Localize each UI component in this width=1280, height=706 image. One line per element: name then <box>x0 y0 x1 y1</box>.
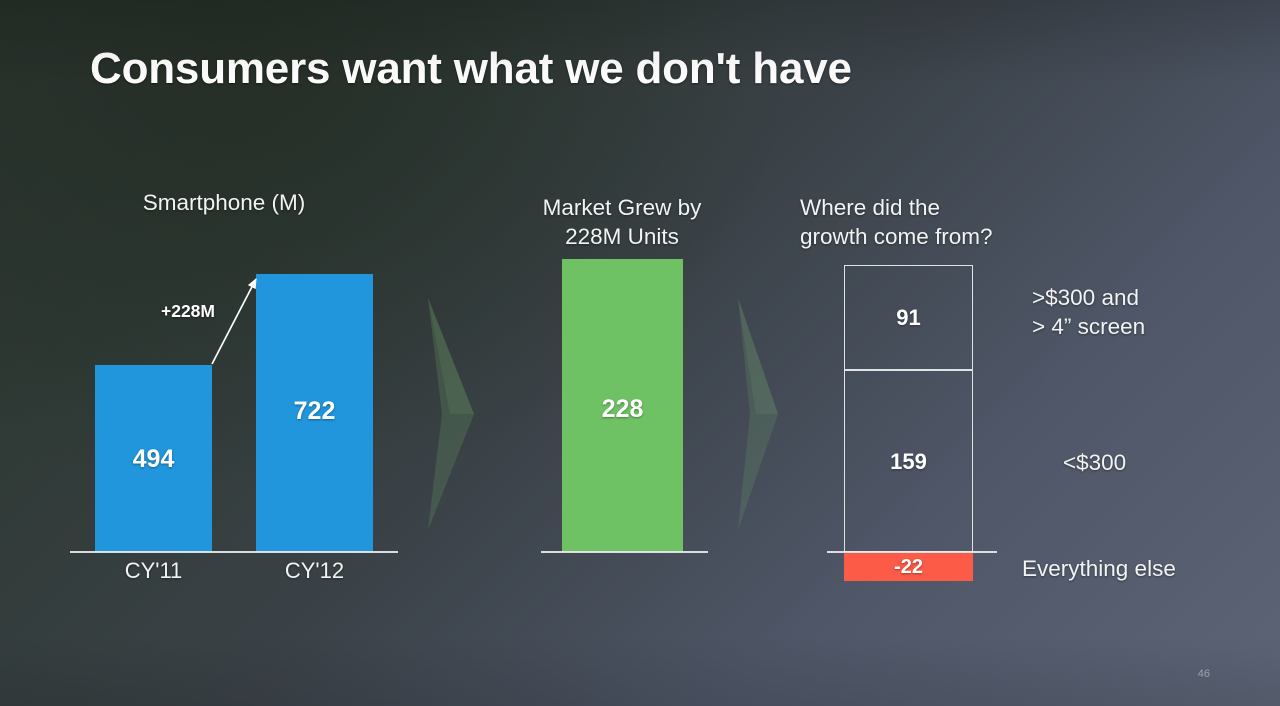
segment-value-budget: 159 <box>844 449 973 475</box>
growth-annotation-label: +228M <box>161 301 215 322</box>
panel1-title: Smartphone (M) <box>74 188 374 217</box>
panel2-axis-line <box>541 551 708 553</box>
legend-label-everything-else: Everything else <box>1022 554 1176 583</box>
page-title: Consumers want what we don't have <box>90 44 852 94</box>
segment-value-everything-else: -22 <box>844 556 973 579</box>
legend-label-premium-line2: > 4” screen <box>1032 314 1145 339</box>
legend-label-premium-line1: >$300 and <box>1032 285 1139 310</box>
chevron-right-icon-1 <box>426 298 476 530</box>
panel3-axis-line <box>827 551 997 553</box>
legend-label-premium: >$300 and> 4” screen <box>1032 283 1145 341</box>
panel1-axis-line <box>70 551 398 553</box>
panel2-title-line1: Market Grew by <box>543 195 702 220</box>
slide-page-number: 46 <box>1198 668 1210 680</box>
bar-cy12-value: 722 <box>256 397 373 426</box>
panel2-title-line2: 228M Units <box>565 224 679 249</box>
bar-market-growth-value: 228 <box>562 395 683 424</box>
panel2-title: Market Grew by228M Units <box>492 193 752 251</box>
panel3-title: Where did thegrowth come from? <box>800 193 1030 251</box>
bar-cy11-value: 494 <box>95 445 212 474</box>
chevron-right-icon-2 <box>736 298 780 530</box>
legend-label-budget: <$300 <box>1063 448 1126 477</box>
category-label-cy11: CY'11 <box>95 558 212 584</box>
segment-value-premium: 91 <box>844 305 973 331</box>
panel3-title-line2: growth come from? <box>800 224 993 249</box>
panel3-title-line1: Where did the <box>800 195 940 220</box>
category-label-cy12: CY'12 <box>256 558 373 584</box>
slide-canvas: Consumers want what we don't have Smartp… <box>0 0 1280 706</box>
